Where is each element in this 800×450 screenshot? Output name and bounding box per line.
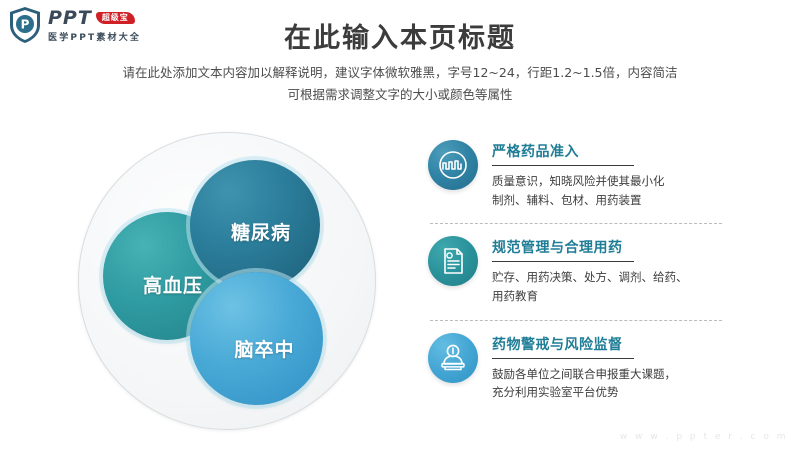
content-list: 严格药品准入 质量意识，知晓风险并使其最小化 制剂、辅料、包材、用药装置 规范管… [428, 140, 758, 402]
page-subtitle-line2: 可根据需求调整文字的大小或颜色等属性 [0, 84, 800, 106]
page-subtitle-line1: 请在此处添加文本内容加以解释说明，建议字体微软雅黑，字号12~24，行距1.2~… [0, 62, 800, 84]
item-description: 鼓励各单位之间联合申报重大课题， 充分利用实验室平台优势 [492, 365, 758, 402]
site-watermark: w w w . p p t e r . c o m [620, 432, 788, 442]
title-underline [492, 165, 634, 166]
page-title: 在此输入本页标题 [0, 16, 800, 55]
list-item[interactable]: 严格药品准入 质量意识，知晓风险并使其最小化 制剂、辅料、包材、用药装置 [428, 140, 758, 223]
item-description: 质量意识，知晓风险并使其最小化 制剂、辅料、包材、用药装置 [492, 172, 758, 209]
item-desc-line2: 用药教育 [492, 287, 758, 306]
bubble-stroke[interactable]: 脑卒中 [190, 272, 323, 405]
list-item[interactable]: 药物警戒与风险监督 鼓励各单位之间联合申报重大课题， 充分利用实验室平台优势 [428, 321, 758, 402]
item-desc-line1: 贮存、用药决策、处方、调剂、给药、 [492, 268, 758, 287]
list-item[interactable]: 规范管理与合理用药 贮存、用药决策、处方、调剂、给药、 用药教育 [428, 224, 758, 319]
title-underline [492, 261, 634, 262]
bubble-diabetes-label: 糖尿病 [231, 218, 291, 245]
item-desc-line2: 制剂、辅料、包材、用药装置 [492, 191, 758, 210]
item-title: 严格药品准入 [492, 141, 758, 165]
safety-helmet-icon [428, 333, 478, 383]
pulse-wave-icon [428, 140, 478, 190]
item-title: 规范管理与合理用药 [492, 237, 758, 261]
title-underline [492, 358, 634, 359]
bubble-diabetes[interactable]: 糖尿病 [190, 160, 320, 290]
page-subtitle: 请在此处添加文本内容加以解释说明，建议字体微软雅黑，字号12~24，行距1.2~… [0, 62, 800, 106]
bubble-hypertension-label: 高血压 [143, 271, 203, 298]
item-desc-line1: 鼓励各单位之间联合申报重大课题， [492, 365, 758, 384]
item-desc-line2: 充分利用实验室平台优势 [492, 383, 758, 402]
item-title: 药物警戒与风险监督 [492, 334, 758, 358]
item-desc-line1: 质量意识，知晓风险并使其最小化 [492, 172, 758, 191]
venn-diagram: 糖尿病 高血压 脑卒中 [78, 132, 378, 432]
item-description: 贮存、用药决策、处方、调剂、给药、 用药教育 [492, 268, 758, 305]
bubble-stroke-label: 脑卒中 [234, 335, 294, 362]
document-icon [428, 236, 478, 286]
